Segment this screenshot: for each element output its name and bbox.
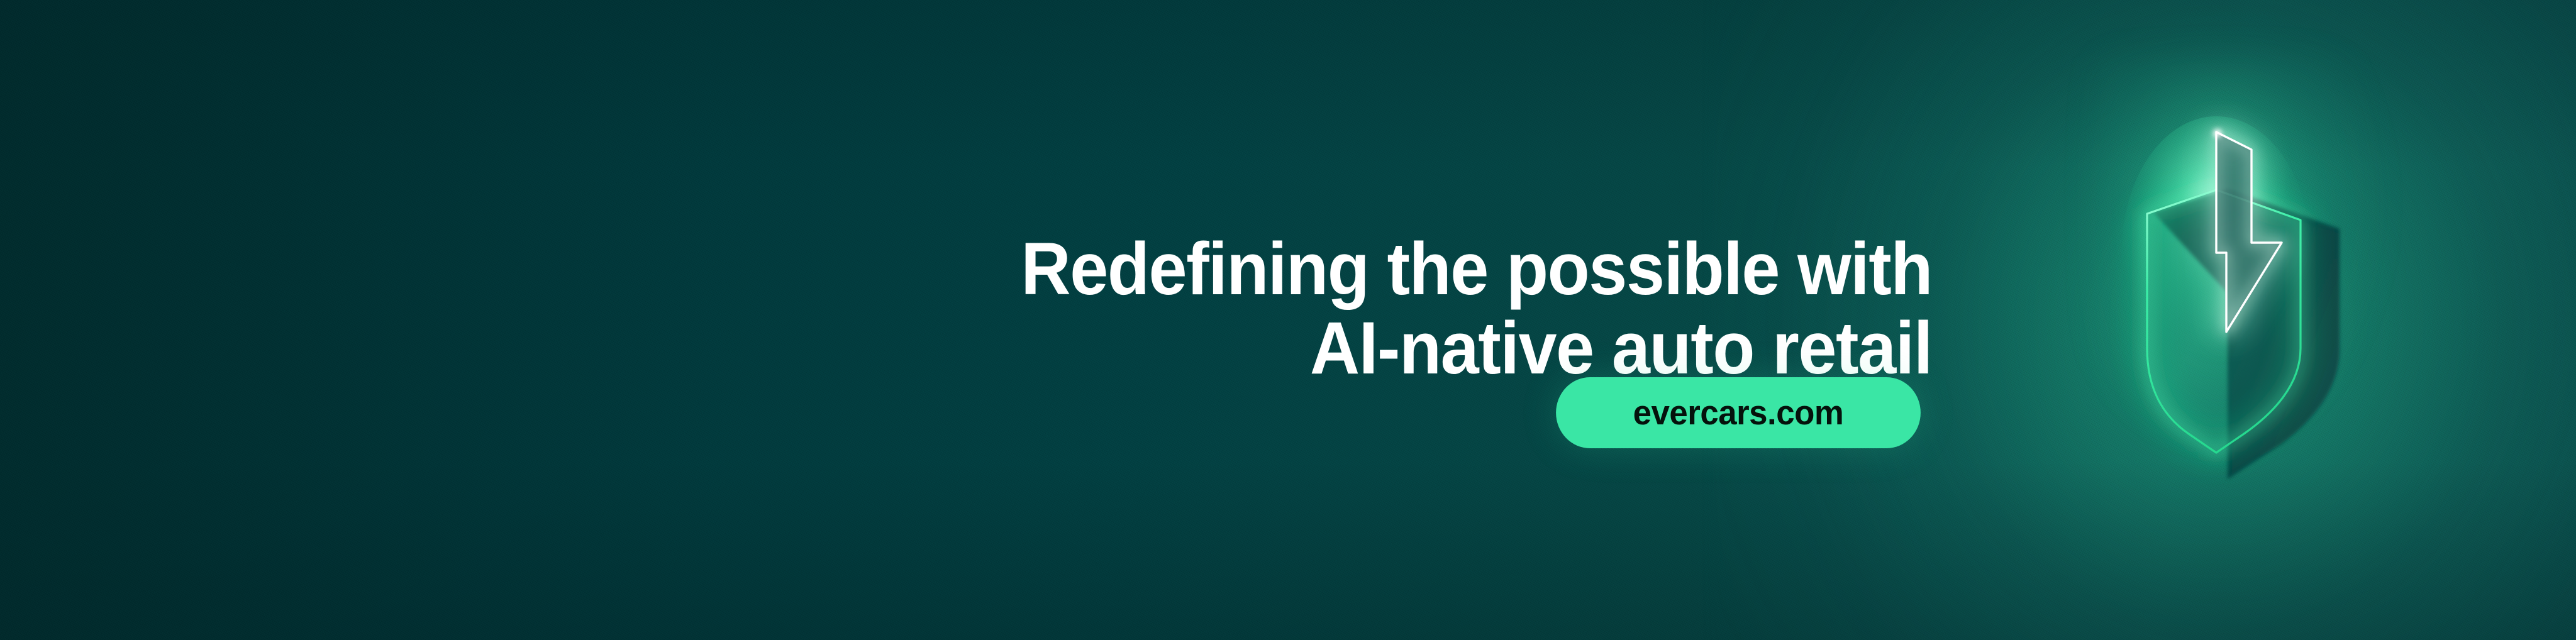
headline-line-2: AI-native auto retail: [837, 309, 1932, 388]
headline-line-1: Redefining the possible with: [837, 229, 1932, 309]
promo-banner: Redefining the possible with AI-native a…: [0, 0, 2576, 640]
headline: Redefining the possible with AI-native a…: [837, 229, 1932, 388]
evercars-cta-button[interactable]: evercars.com: [1556, 377, 1921, 448]
